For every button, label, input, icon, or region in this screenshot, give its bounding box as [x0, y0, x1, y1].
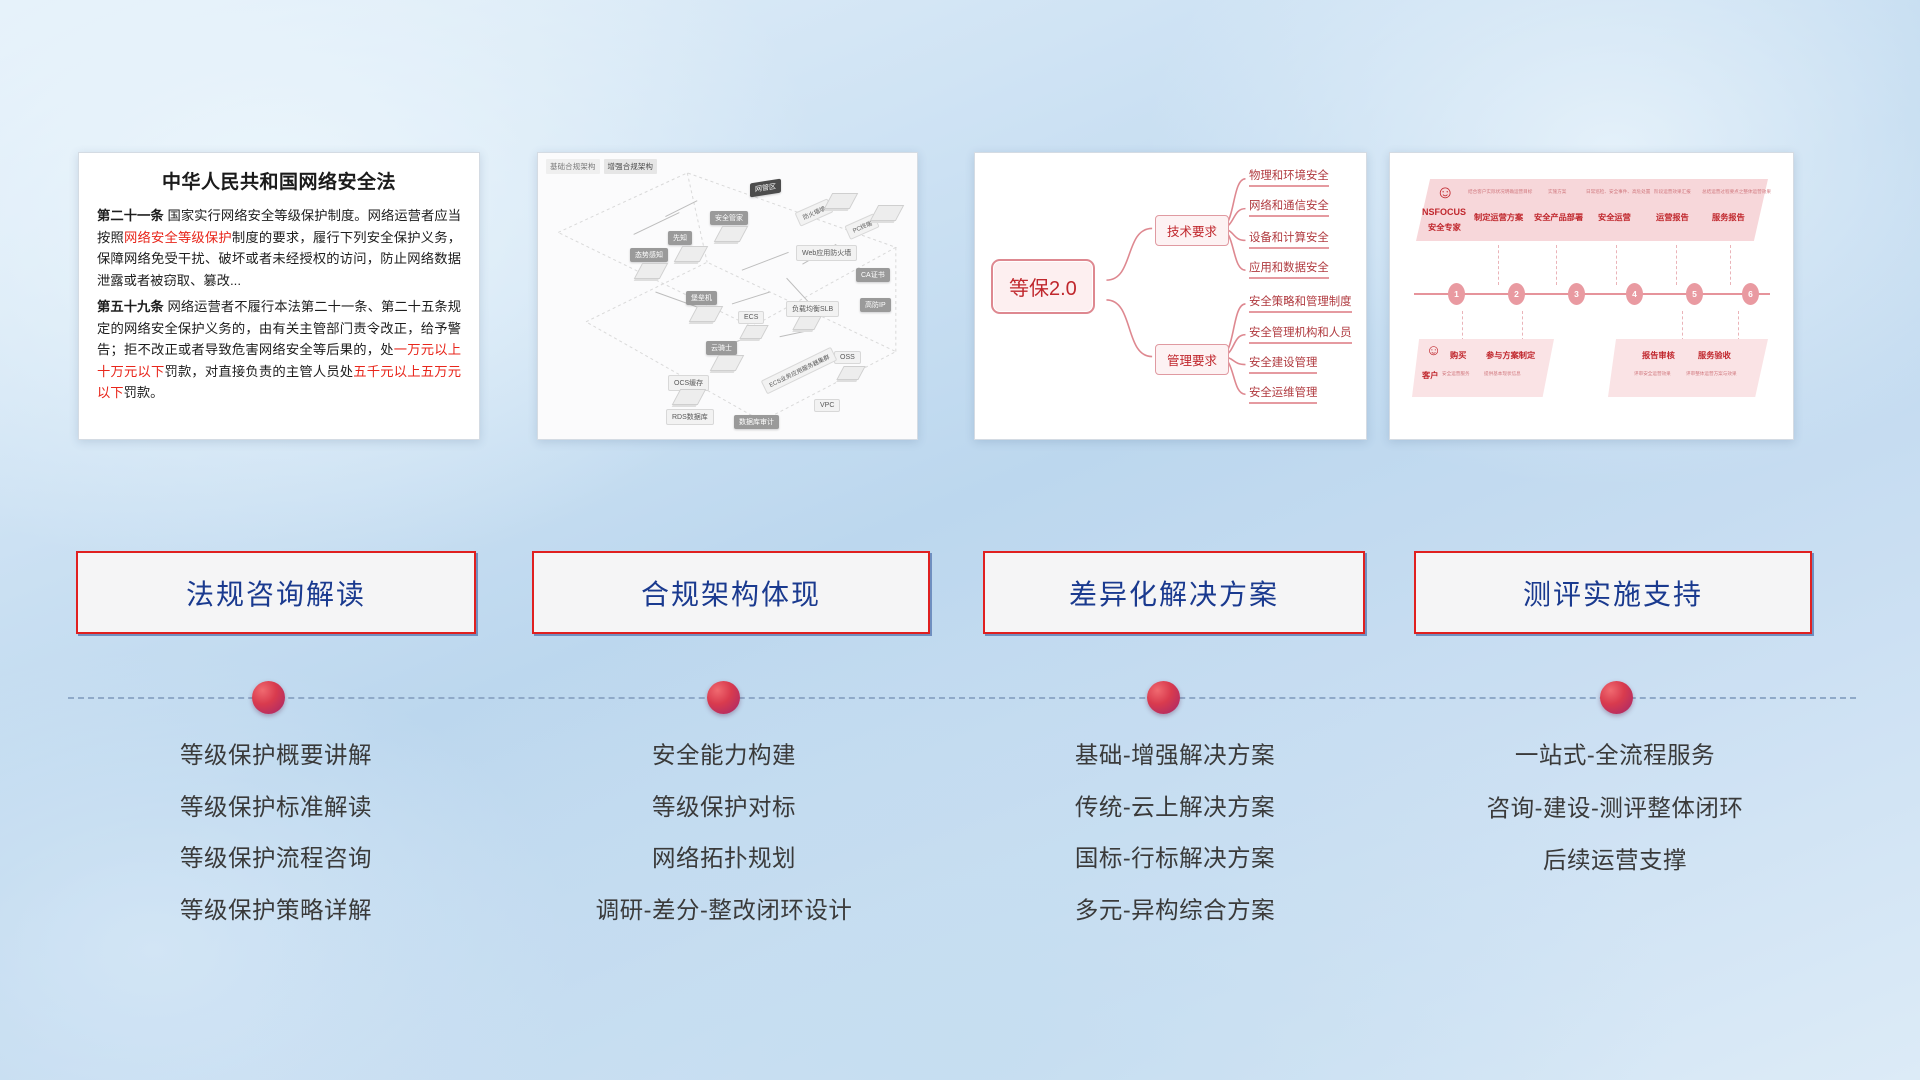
- process-step-dot-2: 2: [1508, 283, 1525, 305]
- arch-node-security-butler: 安全管家: [710, 211, 748, 225]
- column-compliance-architecture: 安全能力构建 等级保护对标 网络拓扑规划 调研-差分-整改闭环设计: [518, 744, 930, 950]
- mindmap-root-node: 等保2.0: [991, 259, 1095, 314]
- process-tick-customer-1: [1462, 311, 1463, 341]
- mindmap-canvas: 等保2.0 技术要求 管理要求 物理和环境安全 网络和通信安全 设备和计算安全 …: [975, 153, 1366, 439]
- arch-node-situational-awareness: 态势感知: [630, 248, 668, 262]
- bottom-left-step-2-label: 参与方案制定: [1486, 349, 1535, 361]
- top-step-1-sub: 结合客户实际状况明确运营目标: [1468, 189, 1532, 195]
- arch-node-anti-ddos-ip: 高防IP: [860, 298, 891, 312]
- process-tick-4: [1616, 245, 1617, 285]
- card-law-text: 中华人民共和国网络安全法 第二十一条 国家实行网络安全等级保护制度。网络运营者应…: [78, 152, 480, 440]
- timeline-dot-2: [707, 681, 740, 714]
- process-canvas: ☺ NSFOCUS 安全专家 结合客户实际状况明确运营目标 制定运营方案 实施方…: [1390, 153, 1793, 439]
- arch-node-vpc: VPC: [814, 399, 840, 412]
- list-item: 等级保护标准解读: [76, 796, 476, 820]
- law-article-59-text-b: 罚款，对直接负责的主管人员处: [164, 364, 353, 379]
- mindmap-leaf-network-comm: 网络和通信安全: [1249, 197, 1329, 217]
- top-step-2-sub: 实施方案: [1548, 189, 1566, 195]
- mindmap-leaf-device-compute: 设备和计算安全: [1249, 229, 1329, 249]
- bottom-left-step-2-sub: 提供基本现状信息: [1484, 371, 1521, 377]
- bottom-right-step-2-label: 服务验收: [1698, 349, 1731, 361]
- title-box-regulation-consulting[interactable]: 法规咨询解读: [76, 551, 476, 634]
- arch-cube-bastion-host: [689, 306, 724, 322]
- process-tick-5: [1676, 245, 1677, 285]
- arch-cube-cloud-knight: [710, 355, 745, 371]
- mindmap-leaf-policy-system: 安全策略和管理制度: [1249, 293, 1352, 313]
- arch-node-cloud-knight: 云骑士: [706, 341, 737, 355]
- law-article-59-label: 第五十九条: [97, 299, 164, 314]
- title-box-1-label: 法规咨询解读: [186, 573, 366, 613]
- list-item: 国标-行标解决方案: [975, 847, 1375, 871]
- architecture-tabs: 基础合规架构 增强合规架构: [546, 159, 657, 174]
- bottom-right-step-1-label: 报告审核: [1642, 349, 1675, 361]
- mindmap-leaf-ops-mgmt: 安全运维管理: [1249, 384, 1317, 404]
- top-step-1-label: 制定运营方案: [1474, 211, 1523, 223]
- bottom-left-step-1-sub: 安全运营服务: [1442, 371, 1470, 377]
- customer-role: 客户: [1422, 369, 1438, 381]
- arch-cube-situational-awareness: [634, 263, 669, 279]
- customer-person-icon: ☺: [1426, 343, 1441, 358]
- list-item: 基础-增强解决方案: [975, 744, 1375, 768]
- process-tick-3: [1556, 245, 1557, 285]
- list-item: 网络拓扑规划: [518, 847, 930, 871]
- arch-node-ecs-cluster: ECS业务应用服务器集群: [761, 347, 838, 395]
- arch-cube-ocs-cache: [672, 389, 707, 405]
- provider-role: 安全专家: [1428, 221, 1461, 233]
- card-mindmap: 等保2.0 技术要求 管理要求 物理和环境安全 网络和通信安全 设备和计算安全 …: [974, 152, 1367, 440]
- process-customer-band-right: [1608, 339, 1768, 397]
- title-box-assessment-support[interactable]: 测评实施支持: [1414, 551, 1812, 634]
- title-box-2-label: 合规架构体现: [641, 573, 821, 613]
- mindmap-leaf-physical-env: 物理和环境安全: [1249, 167, 1329, 187]
- process-tick-2: [1498, 245, 1499, 285]
- title-box-differentiated-solution[interactable]: 差异化解决方案: [983, 551, 1365, 634]
- provider-person-icon: ☺: [1436, 183, 1454, 201]
- architecture-tab-enhanced[interactable]: 增强合规架构: [604, 159, 658, 174]
- arch-node-ca-cert: CA证书: [856, 268, 890, 282]
- process-step-dot-6: 6: [1742, 283, 1759, 305]
- list-item: 咨询-建设-测评整体闭环: [1410, 797, 1820, 821]
- list-item: 后续运营支撑: [1410, 849, 1820, 873]
- timeline-dot-4: [1600, 681, 1633, 714]
- mindmap-branch-technical: 技术要求: [1155, 215, 1229, 246]
- column-regulation-consulting: 等级保护概要讲解 等级保护标准解读 等级保护流程咨询 等级保护策略详解: [76, 744, 476, 950]
- title-box-4-label: 测评实施支持: [1523, 573, 1703, 613]
- process-step-dot-5: 5: [1686, 283, 1703, 305]
- process-tick-6: [1730, 245, 1731, 285]
- top-step-3-sub: 日常巡检、安全事件、高危处置: [1586, 189, 1650, 195]
- architecture-connectors: [538, 153, 917, 439]
- timeline-dashed-line: [68, 697, 1856, 699]
- column-assessment-support: 一站式-全流程服务 咨询-建设-测评整体闭环 后续运营支撑: [1410, 744, 1820, 902]
- list-item: 等级保护策略详解: [76, 899, 476, 923]
- list-item: 调研-差分-整改闭环设计: [518, 899, 930, 923]
- process-tick-customer-3: [1682, 311, 1683, 341]
- top-step-5-sub: 总结运营过程要点之整体运营效果: [1702, 189, 1771, 195]
- list-item: 安全能力构建: [518, 744, 930, 768]
- arch-node-slb: 负载均衡SLB: [786, 301, 839, 317]
- card-process-roadmap: ☺ NSFOCUS 安全专家 结合客户实际状况明确运营目标 制定运营方案 实施方…: [1389, 152, 1794, 440]
- law-article-21-label: 第二十一条: [97, 208, 164, 223]
- process-rail: [1414, 293, 1770, 295]
- list-item: 等级保护对标: [518, 796, 930, 820]
- top-step-3-label: 安全运营: [1598, 211, 1631, 223]
- law-title: 中华人民共和国网络安全法: [97, 167, 461, 194]
- law-article-59: 第五十九条 网络运营者不履行本法第二十一条、第二十五条规定的网络安全保护义务的，…: [97, 296, 461, 404]
- list-item: 传统-云上解决方案: [975, 796, 1375, 820]
- process-step-dot-3: 3: [1568, 283, 1585, 305]
- arch-node-bastion-host: 堡垒机: [686, 291, 717, 305]
- architecture-tab-basic[interactable]: 基础合规架构: [546, 159, 600, 174]
- architecture-canvas: 基础合规架构 增强合规架构: [538, 153, 917, 439]
- top-step-4-label: 运营报告: [1656, 211, 1689, 223]
- arch-node-waf: Web应用防火墙: [796, 245, 857, 261]
- bottom-right-step-2-sub: 评审整体运营方案与效果: [1686, 371, 1737, 377]
- arch-node-oss: OSS: [834, 351, 861, 364]
- top-step-2-label: 安全产品部署: [1534, 211, 1583, 223]
- bottom-right-step-1-sub: 评审安全运营效果: [1634, 371, 1671, 377]
- process-tick-customer-4: [1738, 311, 1739, 341]
- arch-node-rds-db: RDS数据库: [666, 409, 714, 425]
- mindmap-leaf-org-personnel: 安全管理机构和人员: [1249, 324, 1352, 344]
- arch-node-ecs: ECS: [738, 311, 764, 324]
- process-step-dot-4: 4: [1626, 283, 1643, 305]
- arch-cube-slb: [792, 316, 821, 330]
- law-article-21-highlight: 网络安全等级保护: [124, 230, 232, 245]
- title-box-3-label: 差异化解决方案: [1069, 573, 1279, 613]
- list-item: 多元-异构综合方案: [975, 899, 1375, 923]
- timeline-dot-1: [252, 681, 285, 714]
- arch-cube-firewall: [824, 193, 859, 209]
- arch-cube-security-butler: [714, 226, 749, 242]
- process-step-dot-1: 1: [1448, 283, 1465, 305]
- mindmap-leaf-app-data: 应用和数据安全: [1249, 259, 1329, 279]
- slide-canvas: 中华人民共和国网络安全法 第二十一条 国家实行网络安全等级保护制度。网络运营者应…: [0, 0, 1920, 1080]
- card-architecture-diagram: 基础合规架构 增强合规架构: [537, 152, 918, 440]
- law-body: 中华人民共和国网络安全法 第二十一条 国家实行网络安全等级保护制度。网络运营者应…: [79, 153, 479, 419]
- law-article-59-text-c: 罚款。: [124, 385, 164, 400]
- column-differentiated-solution: 基础-增强解决方案 传统-云上解决方案 国标-行标解决方案 多元-异构综合方案: [975, 744, 1375, 950]
- mindmap-leaf-construction-mgmt: 安全建设管理: [1249, 354, 1317, 374]
- list-item: 等级保护概要讲解: [76, 744, 476, 768]
- arch-cube-xianzhi: [674, 246, 709, 262]
- top-step-5-label: 服务报告: [1712, 211, 1745, 223]
- timeline-dot-3: [1147, 681, 1180, 714]
- arch-cube-ecs: [739, 325, 768, 339]
- arch-node-xianzhi: 先知: [668, 231, 692, 245]
- law-article-21: 第二十一条 国家实行网络安全等级保护制度。网络运营者应当按照网络安全等级保护制度…: [97, 205, 461, 291]
- provider-name: NSFOCUS: [1422, 207, 1466, 217]
- arch-cube-pc-terminal: [870, 205, 905, 221]
- arch-node-db-audit: 数据库审计: [734, 415, 779, 429]
- list-item: 一站式-全流程服务: [1410, 744, 1820, 768]
- process-tick-customer-2: [1522, 311, 1523, 341]
- arch-node-netops: 网管区: [750, 179, 781, 198]
- list-item: 等级保护流程咨询: [76, 847, 476, 871]
- top-step-4-sub: 阶段运营效果汇报: [1654, 189, 1691, 195]
- arch-cube-oss: [836, 366, 865, 380]
- mindmap-branch-management: 管理要求: [1155, 344, 1229, 375]
- title-box-compliance-architecture[interactable]: 合规架构体现: [532, 551, 930, 634]
- bottom-left-step-1-label: 购买: [1450, 349, 1466, 361]
